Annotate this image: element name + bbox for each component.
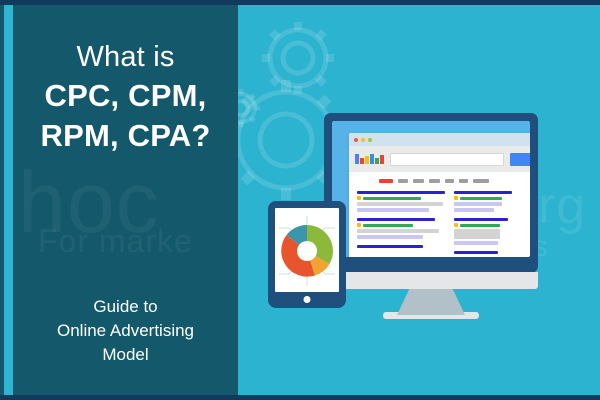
browser-window[interactable] <box>349 133 530 257</box>
result-url <box>460 197 502 200</box>
result-meta <box>454 223 512 227</box>
result-snippet-line <box>357 235 423 239</box>
result-title[interactable] <box>357 245 423 248</box>
analytics-pie-chart <box>275 208 339 292</box>
result-url <box>460 224 500 227</box>
browser-titlebar <box>349 133 530 146</box>
result-snippet-line <box>357 229 439 233</box>
gear-icon-medium <box>262 22 334 94</box>
ad-badge-icon <box>357 223 361 227</box>
result-item[interactable] <box>357 191 445 212</box>
headline-line-2: CPC, CPM, <box>13 76 238 116</box>
result-item[interactable] <box>454 218 512 245</box>
close-dot-icon[interactable] <box>354 138 358 142</box>
result-snippet-line <box>357 202 443 206</box>
result-snippet-line <box>454 202 502 206</box>
tab-books[interactable] <box>459 179 468 183</box>
tab-maps[interactable] <box>445 179 454 183</box>
result-item[interactable] <box>357 245 445 248</box>
subheadline-line-1: Guide to <box>13 295 238 319</box>
result-item[interactable] <box>454 191 512 212</box>
result-title[interactable] <box>357 218 435 221</box>
results-columns <box>357 191 530 257</box>
maximize-dot-icon[interactable] <box>368 138 372 142</box>
result-item[interactable] <box>357 218 445 239</box>
result-title[interactable] <box>454 191 512 194</box>
desktop-monitor <box>324 113 538 273</box>
monitor-stand <box>397 289 465 315</box>
result-item[interactable] <box>454 251 512 254</box>
result-url <box>363 197 421 200</box>
result-snippet-line <box>454 208 494 212</box>
results-side-column <box>454 191 512 257</box>
headline-block: What is CPC, CPM, RPM, CPA? <box>13 38 238 156</box>
monitor-chin <box>324 272 538 289</box>
result-title[interactable] <box>357 191 445 194</box>
bottom-border <box>0 395 600 400</box>
search-results-body <box>349 172 530 257</box>
tab-all[interactable] <box>379 179 393 183</box>
search-input[interactable] <box>390 153 504 166</box>
result-title[interactable] <box>454 218 508 221</box>
accent-stripe <box>4 0 13 400</box>
ad-badge-icon <box>357 196 361 200</box>
results-main-column <box>357 191 445 257</box>
top-border <box>0 0 600 5</box>
ad-badge-icon <box>454 223 458 227</box>
tablet-device <box>268 201 346 308</box>
tab-videos[interactable] <box>413 179 424 183</box>
subheadline-line-3: Model <box>13 343 238 367</box>
result-snippet-line <box>454 241 498 245</box>
result-meta <box>357 196 445 200</box>
banner-canvas: org tips hoc For marke What is CPC, CPM,… <box>0 0 600 400</box>
tab-images[interactable] <box>398 179 408 183</box>
subheadline-line-2: Online Advertising <box>13 319 238 343</box>
tablet-home-button-icon[interactable] <box>304 296 311 303</box>
monitor-screen <box>332 121 530 257</box>
donut-hole <box>297 241 317 261</box>
result-snippet-line <box>357 208 429 212</box>
gear-icon-small <box>238 89 260 127</box>
search-nav-tabs <box>357 179 530 183</box>
search-bar <box>349 146 530 172</box>
result-title[interactable] <box>454 251 498 254</box>
search-engine-logo-icon <box>355 154 384 164</box>
ad-badge-icon <box>454 196 458 200</box>
result-thumbnail <box>454 229 500 239</box>
result-meta <box>357 223 445 227</box>
search-button[interactable] <box>510 153 530 166</box>
tab-news[interactable] <box>429 179 440 183</box>
subheadline-block: Guide to Online Advertising Model <box>13 295 238 367</box>
headline-line-3: RPM, CPA? <box>13 116 238 156</box>
headline-line-1: What is <box>13 38 238 76</box>
result-meta <box>454 196 512 200</box>
tablet-screen <box>275 208 339 292</box>
watermark-tagline: For marke <box>38 225 193 257</box>
tab-more[interactable] <box>473 179 489 183</box>
result-url <box>363 224 413 227</box>
minimize-dot-icon[interactable] <box>361 138 365 142</box>
watermark-brand: hoc <box>18 160 160 246</box>
